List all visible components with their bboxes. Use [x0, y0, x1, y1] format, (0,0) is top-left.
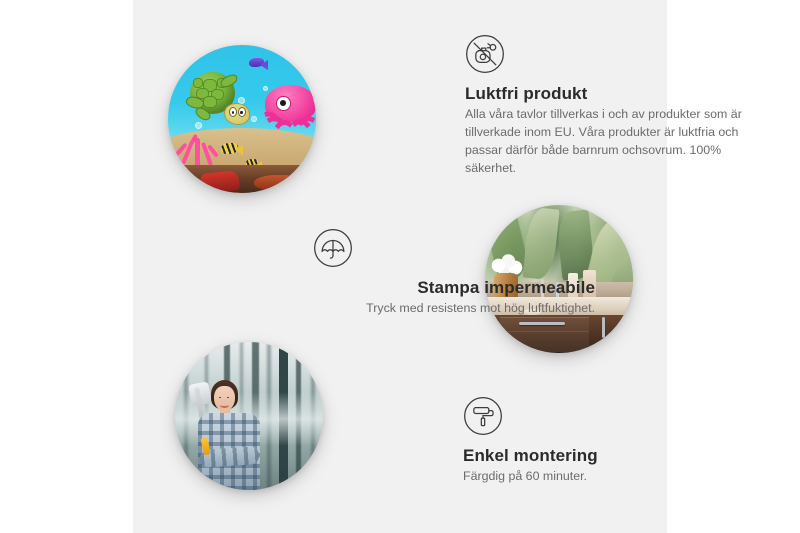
paint-roller-icon — [463, 396, 723, 436]
umbrella-icon — [313, 228, 595, 268]
vanity-cabinet — [494, 315, 633, 353]
feature-odourless: Luktfri produkt Alla våra tavlor tillver… — [465, 34, 761, 178]
feature-description: Alla våra tavlor tillverkas i och av pro… — [465, 106, 761, 178]
fish-icon — [221, 143, 238, 154]
image-underwater-kids-mural[interactable] — [168, 45, 316, 193]
feature-waterproof: Stampa impermeabile Tryck med resistens … — [313, 228, 595, 318]
feature-title: Luktfri produkt — [465, 83, 761, 104]
coral-icon — [174, 119, 224, 169]
no-fragrance-icon — [465, 34, 761, 74]
sea-foreground-strip — [168, 165, 316, 193]
underwater-artwork — [168, 45, 316, 193]
promo-banner: Luktfri produkt Alla våra tavlor tillver… — [0, 0, 800, 533]
content-panel: Luktfri produkt Alla våra tavlor tillver… — [133, 0, 667, 533]
feature-description: Tryck med resistens mot hög luftfuktighe… — [313, 300, 595, 318]
feature-title: Enkel montering — [463, 445, 723, 466]
woman-figure — [187, 380, 279, 490]
feature-mounting: Enkel montering Färgdig på 60 minuter. — [463, 396, 723, 486]
feature-description: Färgdig på 60 minuter. — [463, 468, 723, 486]
octopus-icon — [254, 85, 316, 162]
fish-icon — [249, 58, 264, 67]
image-woman-paint-roller-forest[interactable] — [175, 342, 323, 490]
forest-artwork — [175, 342, 323, 490]
feature-title: Stampa impermeabile — [313, 277, 595, 298]
